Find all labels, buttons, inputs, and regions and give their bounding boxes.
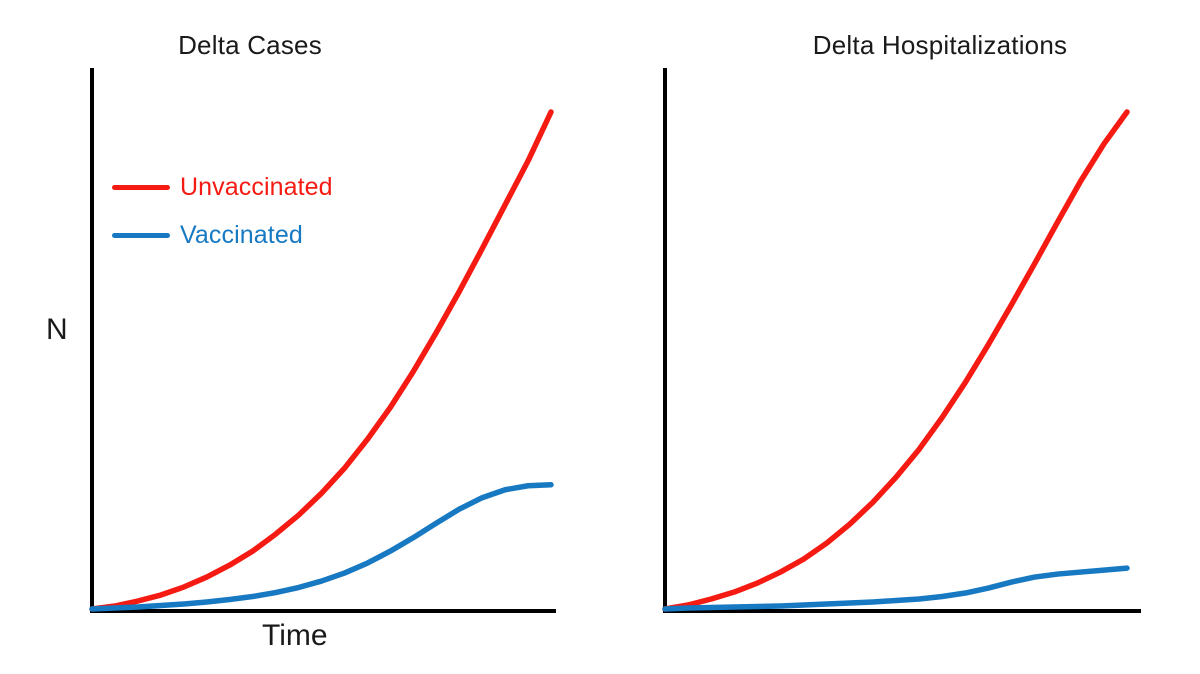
plot-area-left: [0, 0, 620, 674]
figure-root: Delta Cases N Time Unvaccinated Vaccinat…: [0, 0, 1200, 674]
legend-item-vaccinated: Vaccinated: [112, 211, 333, 259]
plot-area-right: [620, 0, 1200, 674]
chart-panel-delta-cases: Delta Cases N Time Unvaccinated Vaccinat…: [0, 0, 620, 674]
legend-label-unvaccinated: Unvaccinated: [180, 173, 333, 202]
legend-item-unvaccinated: Unvaccinated: [112, 163, 333, 211]
series-line-vaccinated-right: [665, 568, 1127, 609]
y-axis-label: N: [46, 313, 68, 347]
series-line-vaccinated-left: [92, 485, 551, 609]
series-line-unvaccinated-right: [665, 112, 1127, 609]
x-axis-label: Time: [262, 619, 328, 653]
legend-swatch-vaccinated-icon: [112, 233, 170, 238]
chart-legend: Unvaccinated Vaccinated: [112, 163, 333, 259]
legend-swatch-unvaccinated-icon: [112, 185, 170, 190]
legend-label-vaccinated: Vaccinated: [180, 221, 303, 250]
chart-panel-delta-hospitalizations: Delta Hospitalizations: [620, 0, 1200, 674]
